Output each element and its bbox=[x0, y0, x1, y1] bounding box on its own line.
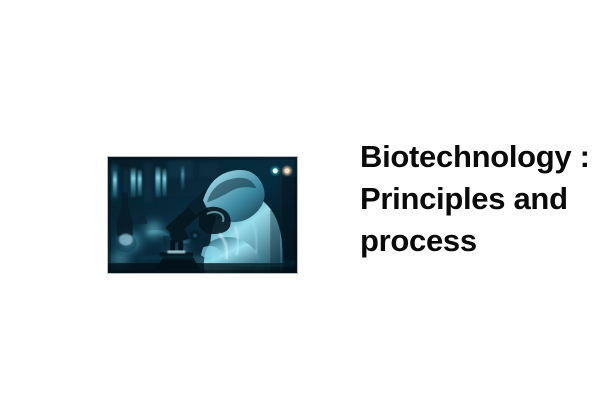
laboratory-photo-illustration bbox=[108, 157, 297, 273]
title-line-2: Principles and bbox=[360, 178, 600, 220]
laboratory-photo bbox=[107, 156, 298, 274]
title-line-3: process bbox=[360, 220, 600, 262]
title-line-1: Biotechnology : bbox=[360, 136, 600, 178]
slide-canvas: Biotechnology : Principles and process bbox=[0, 0, 600, 400]
content-row: Biotechnology : Principles and process bbox=[67, 140, 600, 290]
page-title: Biotechnology : Principles and process bbox=[360, 136, 600, 262]
